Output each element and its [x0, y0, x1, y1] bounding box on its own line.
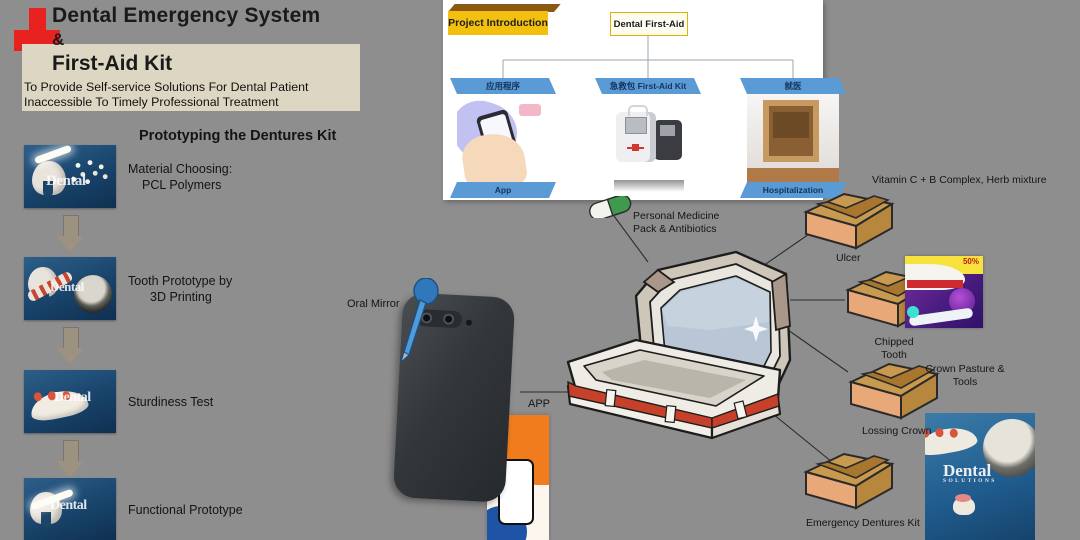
- brand-logo-text: Dental: [50, 498, 87, 514]
- branch-app-top-label: 应用程序: [486, 80, 520, 92]
- box-emergency-dentures-kit: [800, 448, 896, 514]
- branch-hosp-bottom-label: Hospitalization: [763, 185, 823, 195]
- project-introduction-panel: Project Introduction Dental First-Aid 应用…: [443, 0, 823, 200]
- crown-note-line1: Crown Pasture &: [925, 363, 1005, 376]
- arrow-down-icon-2: [56, 327, 84, 365]
- annotation-app: APP: [528, 398, 550, 411]
- annotation-vitamin-note: Vitamin C + B Complex, Herb mixture: [872, 174, 1072, 187]
- project-introduction-tab[interactable]: Project Introduction: [448, 11, 548, 35]
- open-first-aid-case: [540, 230, 840, 450]
- oral-mirror-icon: [400, 278, 440, 362]
- arrow-down-icon-1: [56, 215, 84, 253]
- brand-logo-text: Dental: [50, 279, 84, 295]
- proto-step-2-line2: 3D Printing: [128, 289, 328, 305]
- branch-kit-top-label: 急救包 First-Aid Kit: [610, 80, 687, 92]
- proto-step-2-image: Dental: [24, 257, 116, 320]
- crown-product-package-photo: 50%: [905, 256, 983, 328]
- arrow-down-icon-3: [56, 440, 84, 478]
- page-subtitle: First-Aid Kit: [52, 52, 172, 76]
- proto-step-2-label: Tooth Prototype by 3D Printing: [128, 273, 328, 305]
- tree-root-node[interactable]: Dental First-Aid: [610, 12, 688, 36]
- chipped-line1: Chipped: [866, 336, 922, 349]
- tagline: To Provide Self-service Solutions For De…: [24, 80, 360, 110]
- proto-step-3-image: Dental: [24, 370, 116, 433]
- branch-app-image: [457, 94, 549, 182]
- branch-hosp-header: 就医: [747, 78, 839, 94]
- proto-step-1-label: Material Choosing: PCL Polymers: [128, 161, 328, 193]
- branch-hospitalization[interactable]: 就医 Hospitalization: [747, 78, 839, 198]
- proto-step-4-image: Dental: [24, 478, 116, 540]
- tagline-line-1: To Provide Self-service Solutions For De…: [24, 80, 360, 95]
- branch-app[interactable]: 应用程序 App: [457, 78, 549, 198]
- annotation-ulcer: Ulcer: [836, 252, 861, 265]
- prototyping-heading: Prototyping the Dentures Kit: [139, 128, 336, 144]
- brand-logo-text: DentalSOLUTIONS: [943, 461, 997, 484]
- brand-logo-text: Dental: [54, 390, 91, 406]
- discount-badge: 50%: [963, 257, 979, 266]
- capsule-pill-icon: [587, 196, 633, 218]
- branch-app-bottom-label: App: [495, 185, 512, 195]
- branch-kit-header: 急救包 First-Aid Kit: [602, 78, 694, 94]
- branch-app-footer: App: [457, 182, 549, 198]
- annotation-oral-mirror: Oral Mirror: [347, 298, 400, 311]
- tagline-line-2: Inaccessible To Timely Professional Trea…: [24, 95, 360, 110]
- poster-canvas: Dental Emergency System & First-Aid Kit …: [0, 0, 1080, 540]
- proto-step-2: Dental Tooth Prototype by 3D Printing: [24, 257, 116, 320]
- tree-root-label: Dental First-Aid: [614, 19, 685, 30]
- branch-hosp-top-label: 就医: [784, 80, 801, 92]
- proto-step-1-line2: PCL Polymers: [128, 177, 328, 193]
- proto-step-1-line1: Material Choosing:: [128, 161, 328, 177]
- branch-hosp-image: [747, 94, 839, 182]
- crown-note-line2: Tools: [925, 376, 1005, 389]
- proto-step-1: Dental Material Choosing: PCL Polymers: [24, 145, 116, 208]
- proto-step-3-label: Sturdiness Test: [128, 394, 328, 410]
- brand-logo-text: Dental: [46, 173, 86, 190]
- proto-step-4: Dental Functional Prototype: [24, 478, 116, 540]
- proto-step-1-image: Dental: [24, 145, 116, 208]
- title-ampersand: &: [52, 30, 64, 50]
- proto-step-3: Dental Sturdiness Test: [24, 370, 116, 433]
- branch-kit[interactable]: 急救包 First-Aid Kit: [602, 78, 694, 198]
- annotation-lossing-crown: Lossing Crown: [862, 425, 931, 438]
- personal-medicine-line1: Personal Medicine: [633, 210, 753, 223]
- branch-app-header: 应用程序: [457, 78, 549, 94]
- page-title: Dental Emergency System: [52, 4, 320, 28]
- project-introduction-tab-label: Project Introduction: [448, 17, 548, 29]
- proto-step-4-label: Functional Prototype: [128, 502, 328, 518]
- annotation-crown-pasture: Crown Pasture & Tools: [925, 363, 1005, 389]
- brand-logo-sub: SOLUTIONS: [943, 478, 997, 484]
- branch-kit-image: [602, 94, 694, 198]
- box-ulcer: [800, 188, 896, 254]
- annotation-emergency-dentures-kit: Emergency Dentures Kit: [806, 517, 920, 530]
- dentures-kit-photo: DentalSOLUTIONS: [925, 413, 1035, 540]
- proto-step-2-line1: Tooth Prototype by: [128, 273, 328, 289]
